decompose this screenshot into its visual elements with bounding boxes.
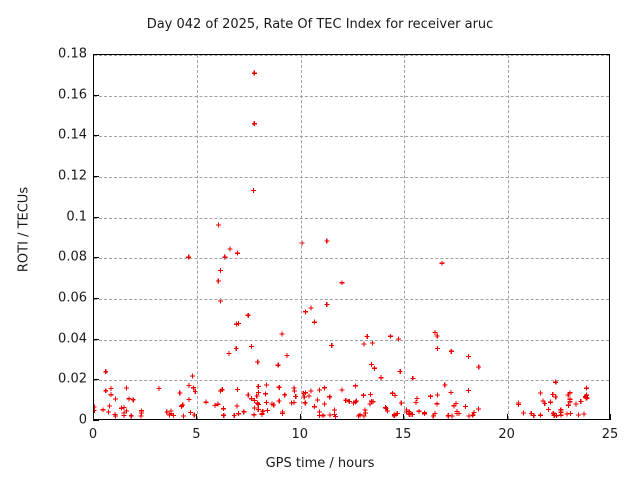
gridline-horizontal xyxy=(94,340,609,341)
y-axis-tick-labels: 00.020.040.060.080.10.120.140.160.18 xyxy=(0,54,87,420)
x-axis-label: GPS time / hours xyxy=(0,456,640,471)
gridline-horizontal xyxy=(94,299,609,300)
gridline-horizontal xyxy=(94,136,609,137)
x-axis-tick-label: 5 xyxy=(166,427,226,442)
y-axis-tick-mark xyxy=(93,54,99,55)
y-axis-tick-mark xyxy=(93,217,99,218)
gridline-horizontal xyxy=(94,96,609,97)
x-axis-tick-mark xyxy=(300,414,301,420)
y-axis-tick-mark xyxy=(93,420,99,421)
gridline-vertical xyxy=(301,55,302,419)
x-axis-tick-mark xyxy=(93,414,94,420)
y-axis-tick-mark xyxy=(93,379,99,380)
gridline-horizontal xyxy=(94,218,609,219)
y-axis-tick-label: 0.16 xyxy=(3,87,87,102)
x-axis-tick-mark xyxy=(196,414,197,420)
y-axis-tick-mark xyxy=(93,339,99,340)
x-axis-tick-mark xyxy=(610,414,611,420)
gridline-horizontal xyxy=(94,380,609,381)
plot-area xyxy=(93,54,610,420)
gridline-horizontal xyxy=(94,177,609,178)
x-axis-tick-label: 0 xyxy=(63,427,123,442)
gridline-vertical xyxy=(508,55,509,419)
y-axis-tick-mark xyxy=(93,95,99,96)
x-axis-tick-mark xyxy=(403,414,404,420)
gridline-horizontal xyxy=(94,55,609,56)
y-axis-tick-mark xyxy=(93,176,99,177)
y-axis-tick-label: 0.04 xyxy=(3,331,87,346)
y-axis-tick-mark xyxy=(93,135,99,136)
scatter-marker-group xyxy=(94,71,589,419)
y-axis-tick-label: 0.18 xyxy=(3,47,87,62)
x-axis-tick-labels: 0510152025 xyxy=(0,427,640,447)
scatter-points-layer xyxy=(94,55,609,419)
gridline-horizontal xyxy=(94,258,609,259)
x-axis-tick-label: 25 xyxy=(580,427,640,442)
y-axis-tick-label: 0 xyxy=(3,413,87,428)
gridline-vertical xyxy=(197,55,198,419)
y-axis-label: ROTI / TECUs xyxy=(17,140,32,320)
x-axis-tick-mark xyxy=(507,414,508,420)
x-axis-tick-label: 20 xyxy=(477,427,537,442)
y-axis-tick-mark xyxy=(93,257,99,258)
x-axis-tick-label: 15 xyxy=(373,427,433,442)
chart-title: Day 042 of 2025, Rate Of TEC Index for r… xyxy=(0,17,640,32)
y-axis-tick-mark xyxy=(93,298,99,299)
x-axis-tick-label: 10 xyxy=(270,427,330,442)
gridline-vertical xyxy=(404,55,405,419)
y-axis-tick-label: 0.02 xyxy=(3,372,87,387)
chart-figure: Day 042 of 2025, Rate Of TEC Index for r… xyxy=(0,0,640,480)
